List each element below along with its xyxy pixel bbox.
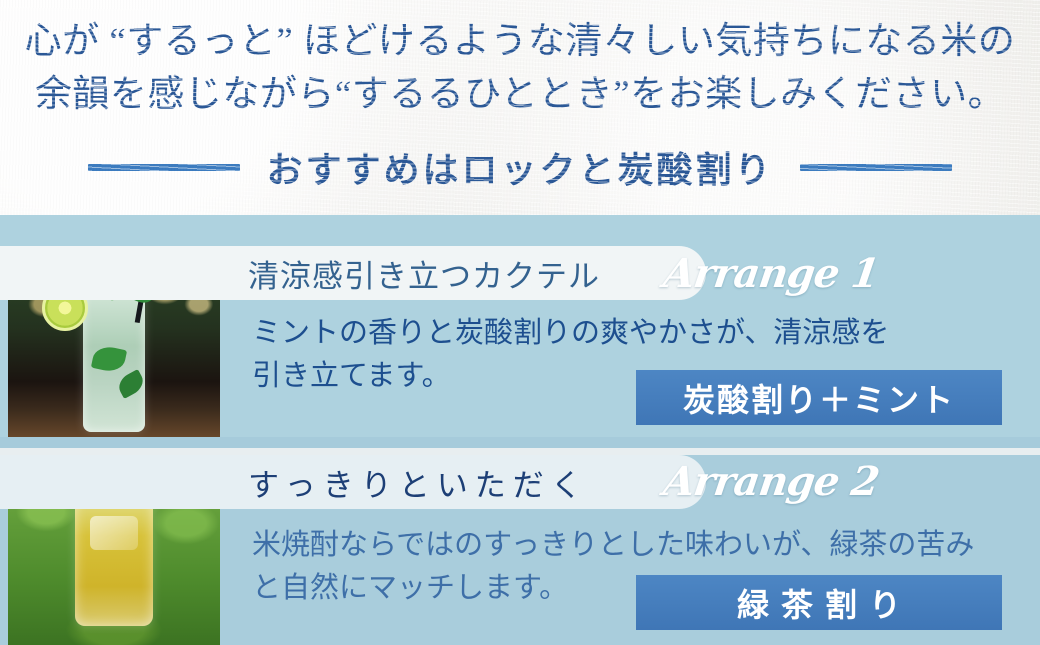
card-1-title: 清涼感引き立つカクテル — [248, 251, 600, 296]
card-divider-band — [0, 437, 1040, 448]
headline-line-2: 余韻を感じながら“するるひととき”をお楽しみください。 — [0, 69, 1040, 122]
card-2-title-pill: すっきりといただく — [0, 455, 706, 509]
card-2-title: すっきりといただく — [248, 460, 589, 505]
ice-cube-shape — [90, 516, 138, 550]
subtitle-row: おすすめはロックと炭酸割り — [0, 136, 1040, 198]
card-1-title-pill: 清涼感引き立つカクテル — [0, 246, 706, 300]
decorative-rule-right — [800, 164, 952, 171]
headline-line-1: 心が “するっと” ほどけるような清々しい気持ちになる米の — [0, 16, 1040, 69]
card-2-badge: 緑茶割り — [636, 575, 1002, 630]
card-1-description-line-1: ミントの香りと炭酸割りの爽やかさが、清涼感を — [252, 312, 1012, 355]
promo-page: 心が “するっと” ほどけるような清々しい気持ちになる米の 余韻を感じながら“す… — [0, 0, 1040, 645]
card-1-arrange-label: Arrange 1 — [661, 250, 882, 297]
headline: 心が “するっと” ほどけるような清々しい気持ちになる米の 余韻を感じながら“す… — [0, 16, 1040, 121]
card-2-arrange-label: Arrange 2 — [661, 458, 882, 505]
card-2-description-line-1: 米焼酎ならではのすっきりとした味わいが、緑茶の苦み — [252, 524, 1012, 567]
decorative-rule-left — [88, 164, 240, 171]
card-1-badge: 炭酸割り＋ミント — [636, 370, 1002, 425]
header-section: 心が “するっと” ほどけるような清々しい気持ちになる米の 余韻を感じながら“す… — [0, 0, 1040, 215]
card-divider-light — [0, 448, 1040, 455]
subtitle-text: おすすめはロックと炭酸割り — [266, 141, 773, 193]
